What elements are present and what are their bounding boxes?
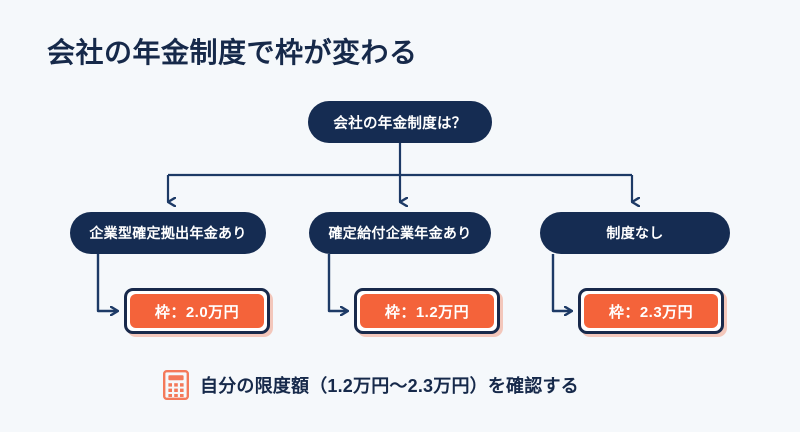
flow-node-root[interactable]: 会社の年金制度は？ (308, 101, 492, 143)
calculator-icon (163, 370, 189, 400)
page-title: 会社の年金制度で枠が変わる (47, 31, 418, 71)
footer-callout: 自分の限度額（1.2万円〜2.3万円）を確認する (163, 370, 579, 400)
amount-box-1[interactable]: 枠：2.0万円 (124, 288, 270, 334)
amount-box-1-label: 枠：2.0万円 (155, 301, 239, 322)
amount-box-3[interactable]: 枠：2.3万円 (578, 288, 724, 334)
amount-box-1-fill: 枠：2.0万円 (130, 294, 264, 328)
flow-node-root-label: 会社の年金制度は？ (333, 112, 466, 133)
footer-text: 自分の限度額（1.2万円〜2.3万円）を確認する (200, 372, 579, 398)
flow-node-branch-1[interactable]: 企業型確定拠出年金あり (70, 212, 266, 254)
flow-node-branch-3-label: 制度なし (606, 223, 663, 243)
connector-elbow-amount-3 (553, 254, 572, 311)
amount-box-3-fill: 枠：2.3万円 (584, 294, 718, 328)
flow-node-branch-3[interactable]: 制度なし (540, 212, 730, 254)
connector-elbow-amount-2 (329, 254, 348, 311)
flow-node-branch-2-label: 確定給付企業年金あり (329, 223, 472, 243)
flow-node-branch-1-label: 企業型確定拠出年金あり (89, 223, 246, 243)
amount-box-3-label: 枠：2.3万円 (609, 301, 693, 322)
amount-box-2-label: 枠：1.2万円 (385, 301, 469, 322)
flow-node-branch-2[interactable]: 確定給付企業年金あり (309, 212, 491, 254)
slide-canvas: 会社の年金制度で枠が変わる 会社の年金制度は？ 企業型確定拠出年金あり 確 (0, 0, 800, 432)
amount-box-2-fill: 枠：1.2万円 (360, 294, 494, 328)
amount-box-2[interactable]: 枠：1.2万円 (354, 288, 500, 334)
connector-elbow-amount-1 (98, 254, 118, 311)
